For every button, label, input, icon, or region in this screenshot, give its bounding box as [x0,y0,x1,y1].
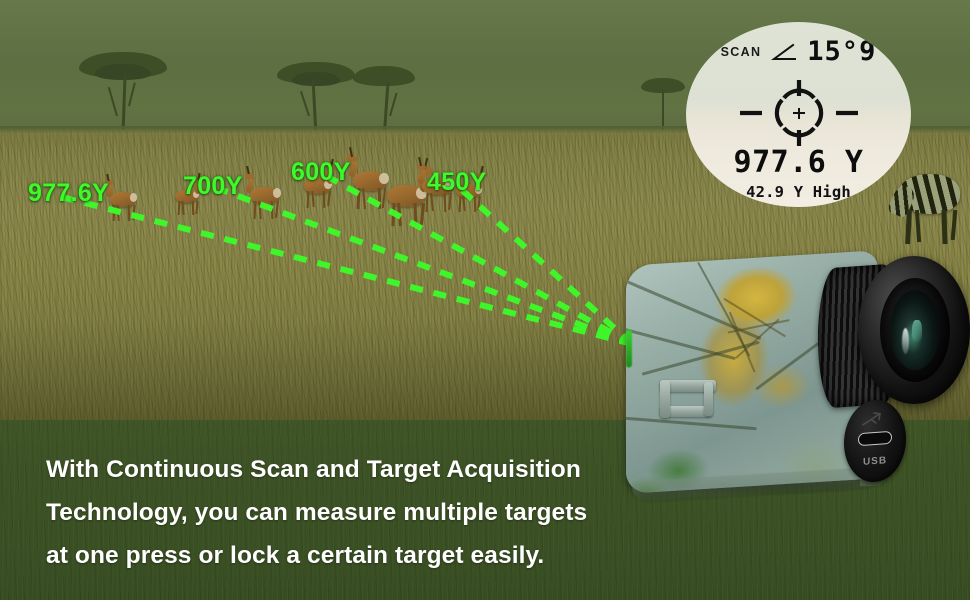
antelope-leg [458,196,461,212]
viewfinder-display: SCAN 15°9 [686,22,911,207]
antelope-leg [307,191,310,208]
antelope-leg [477,196,480,210]
antelope-leg [253,201,256,219]
antelope-leg [195,200,198,213]
scan-mode-label: SCAN [721,45,762,59]
antelope-leg [192,200,194,214]
antelope-leg [275,201,279,218]
antelope-leg [178,200,180,214]
antelope [106,186,141,224]
lens-glass [890,290,940,370]
caption-line-3: at one press or lock a certain target ea… [46,534,646,577]
antelope-rump [273,188,281,198]
distance-label-600: 600Y [291,158,351,187]
antelope-leg [132,205,135,220]
status-led [626,329,632,367]
reading-high: 42.9 Y High [686,185,911,201]
antelope-leg [271,201,274,219]
antelope-leg [112,205,115,221]
distance-label-700: 700Y [183,172,243,201]
usb-port-label: USB [844,454,906,469]
lens-barrel [880,278,950,382]
caption-line-2: Technology, you can measure multiple tar… [46,491,646,534]
distance-label-450: 450Y [427,168,487,197]
acacia-tree-left [78,52,168,134]
antelope-leg [128,205,131,221]
antelope-leg [327,191,331,206]
angle-icon [771,43,797,61]
product-feature-banner: 977.6Y700Y600Y450Y SCAN 15°9 [0,0,970,600]
usb-connector-slot [858,431,892,446]
antelope-leg [462,196,465,211]
lens-reflection [902,328,909,354]
acacia-tree-mid [276,62,356,136]
antelope-rump [130,193,137,202]
antelope-leg [116,205,119,221]
caption-line-1: With Continuous Scan and Target Acquisit… [46,448,646,491]
primary-distance-reading: 977.6 Y [686,148,911,178]
distance-label-977: 977.6Y [28,179,109,208]
antelope-leg [391,203,395,227]
caption-text: With Continuous Scan and Target Acquisit… [46,448,646,577]
antelope-leg [323,191,326,208]
strap-lug [660,380,720,428]
crosshair-reticle-icon [740,80,858,146]
viewfinder-top-row: SCAN 15°9 [686,38,911,65]
eyepiece-lens [858,256,970,404]
lens-reflection-secondary [912,320,922,342]
angle-value: 15°9 [807,38,876,65]
camo-laser-rangefinder: USB [622,252,970,500]
antelope-leg [473,196,475,212]
antelope-leg [377,188,380,209]
antelope-leg [356,188,360,209]
antelope [246,180,285,223]
usb-symbol-icon [860,409,890,429]
